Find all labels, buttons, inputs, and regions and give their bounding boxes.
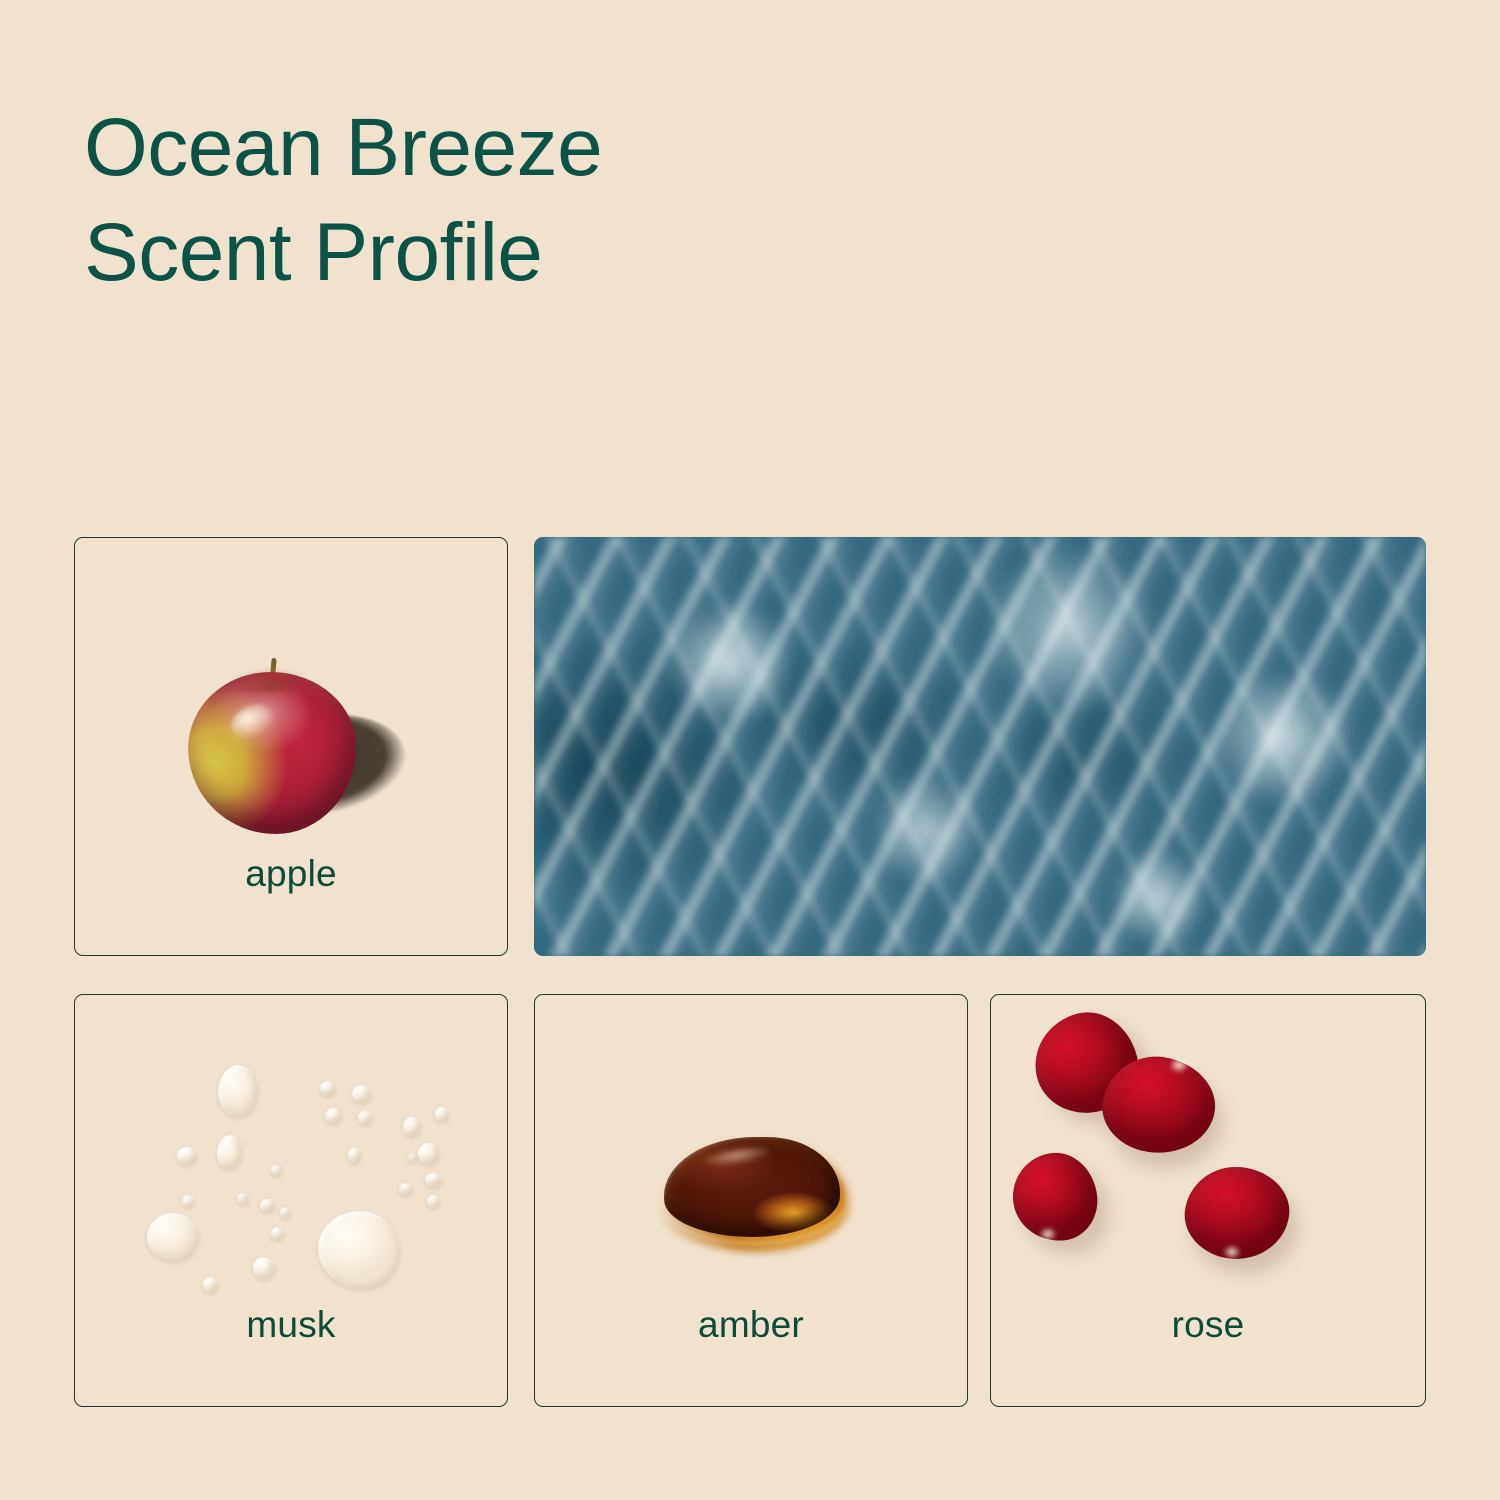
- scent-card-label-musk: musk: [75, 1304, 507, 1346]
- scent-card-musk[interactable]: musk: [74, 994, 508, 1407]
- droplet: [403, 1117, 421, 1136]
- droplet: [271, 1227, 284, 1240]
- scent-card-label-apple: apple: [75, 853, 507, 895]
- scent-note-grid: apple: [74, 537, 1426, 1407]
- droplet: [217, 1135, 242, 1169]
- droplet: [427, 1195, 440, 1208]
- rose-petal-tip: [1039, 1227, 1057, 1241]
- droplet: [435, 1107, 449, 1122]
- droplet: [320, 1081, 336, 1096]
- rose-petal-tip: [1169, 1057, 1189, 1073]
- droplet: [147, 1213, 199, 1261]
- ocean-foam-blooms: [534, 537, 1426, 956]
- droplet: [352, 1085, 371, 1103]
- droplet: [318, 1211, 400, 1289]
- droplet: [237, 1193, 249, 1204]
- droplet: [271, 1165, 282, 1176]
- scent-card-amber[interactable]: amber: [534, 994, 968, 1407]
- droplet: [260, 1199, 275, 1212]
- droplet: [203, 1277, 218, 1293]
- scent-card-label-amber: amber: [535, 1304, 967, 1346]
- droplet: [418, 1143, 439, 1165]
- droplet: [218, 1065, 258, 1117]
- rose-petal-tip: [1223, 1245, 1241, 1259]
- droplet: [253, 1257, 275, 1279]
- droplet: [280, 1207, 291, 1218]
- droplet: [408, 1153, 417, 1162]
- apple-dimple: [230, 668, 312, 694]
- apple-body: [188, 672, 356, 834]
- droplet: [325, 1108, 342, 1124]
- droplet: [358, 1111, 372, 1125]
- scent-card-rose[interactable]: rose: [990, 994, 1426, 1407]
- ocean-photo: [534, 537, 1426, 956]
- page-title: Ocean Breeze Scent Profile: [84, 96, 984, 306]
- droplet: [348, 1147, 361, 1163]
- droplet: [177, 1147, 197, 1165]
- droplet: [182, 1195, 195, 1207]
- scent-card-ocean-image[interactable]: [534, 537, 1426, 956]
- scent-card-apple[interactable]: apple: [74, 537, 508, 956]
- droplet: [425, 1173, 442, 1187]
- droplet: [399, 1183, 413, 1195]
- scent-card-label-rose: rose: [991, 1304, 1425, 1346]
